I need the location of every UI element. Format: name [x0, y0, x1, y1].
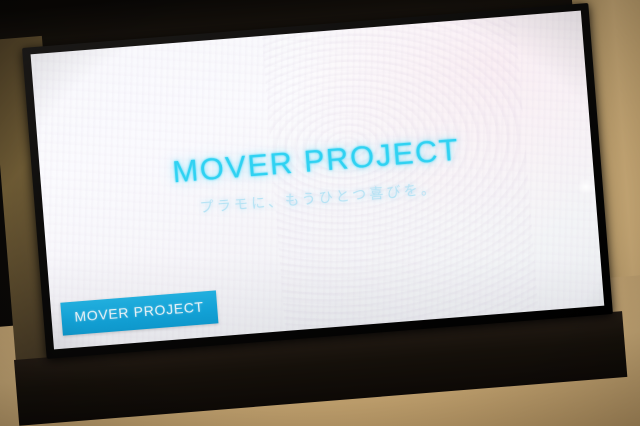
photo-scene: MOVER PROJECT プラモに、もうひとつ喜びを。 MOVER PROJE…	[0, 0, 640, 426]
slide-corner-badge-label: MOVER PROJECT	[74, 298, 205, 324]
slide-corner-badge: MOVER PROJECT	[60, 290, 218, 335]
screen-specular-highlight	[577, 178, 594, 195]
slide-warm-cast	[276, 11, 604, 256]
display-screen: MOVER PROJECT プラモに、もうひとつ喜びを。 MOVER PROJE…	[31, 11, 605, 350]
projection-display: MOVER PROJECT プラモに、もうひとつ喜びを。 MOVER PROJE…	[22, 3, 613, 359]
slide-title: MOVER PROJECT	[39, 122, 592, 200]
slide-text-block: MOVER PROJECT プラモに、もうひとつ喜びを。	[39, 122, 594, 230]
presentation-slide: MOVER PROJECT プラモに、もうひとつ喜びを。 MOVER PROJE…	[31, 11, 605, 350]
slide-subtitle: プラモに、もうひとつ喜びを。	[43, 166, 595, 230]
slide-moire-texture-secondary	[259, 11, 542, 350]
